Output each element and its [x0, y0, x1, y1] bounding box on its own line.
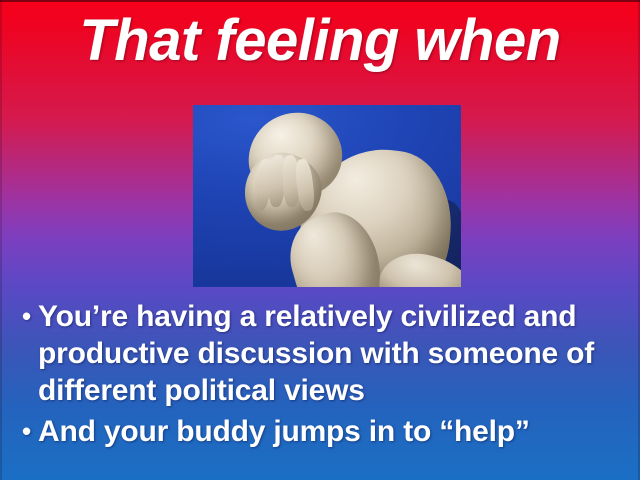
slide-left-border	[0, 0, 2, 480]
slide-title: That feeling when	[0, 10, 640, 72]
bullet-marker-icon: •	[22, 413, 38, 450]
list-item: • And your buddy jumps in to “help”	[22, 413, 622, 450]
bullet-marker-icon: •	[22, 298, 38, 335]
bullet-text: And your buddy jumps in to “help”	[38, 413, 622, 450]
list-item: • You’re having a relatively civilized a…	[22, 298, 622, 409]
bullet-list: • You’re having a relatively civilized a…	[22, 298, 622, 452]
slide-top-border	[0, 0, 640, 2]
slide-canvas: That feeling when • You’re having a rela…	[0, 0, 640, 480]
bullet-text: You’re having a relatively civilized and…	[38, 298, 622, 409]
facepalm-statue-photo	[193, 105, 461, 287]
